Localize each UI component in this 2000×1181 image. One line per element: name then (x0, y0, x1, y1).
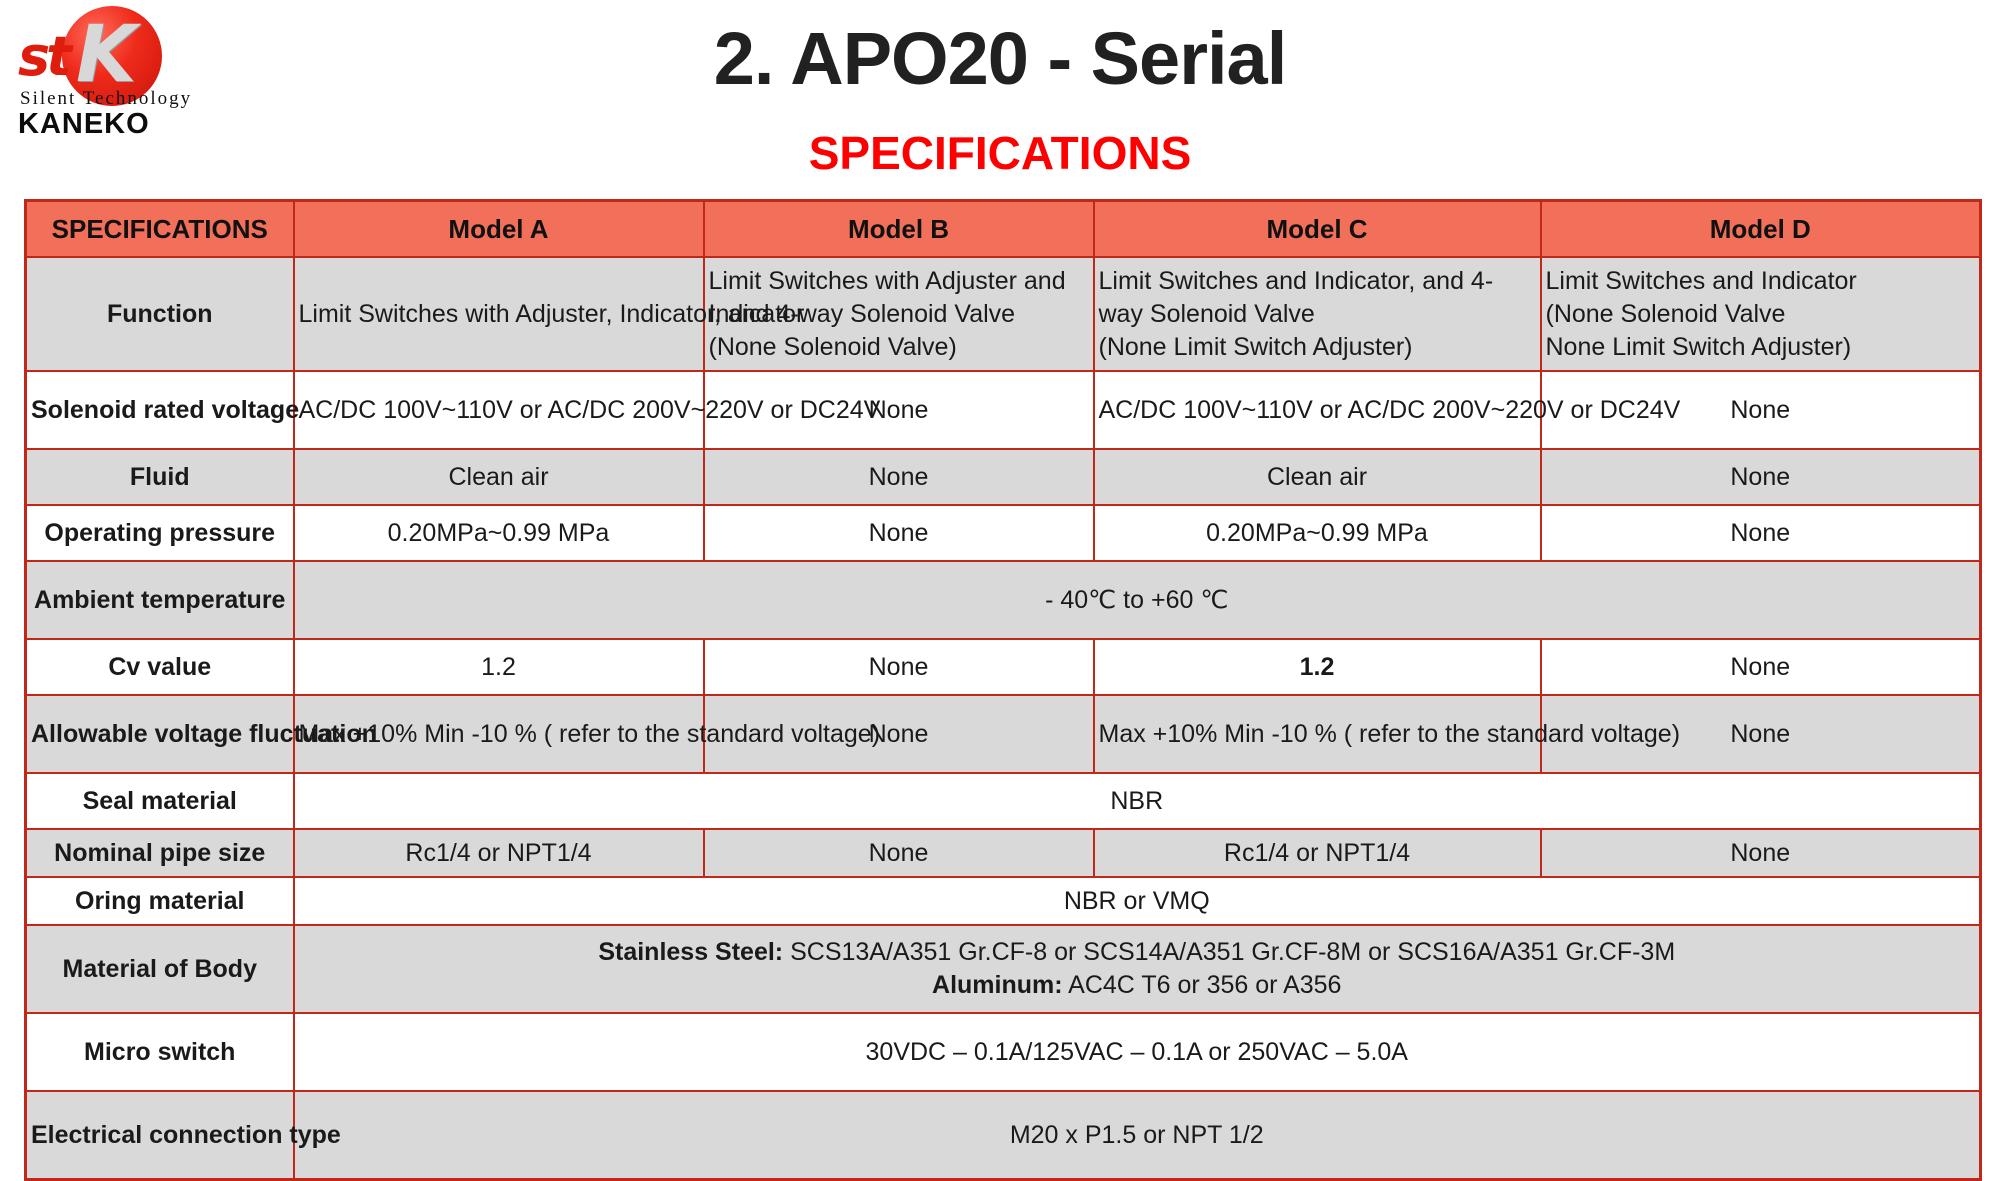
table-header-row: SPECIFICATIONS Model A Model B Model C M… (26, 201, 1981, 258)
row-label-electrical-connection-type: Electrical connection type (26, 1091, 294, 1180)
row-label-function: Function (26, 257, 294, 371)
table-row: Function Limit Switches with Adjuster, I… (26, 257, 1981, 371)
cell-allowable-c: Max +10% Min -10 % ( refer to the standa… (1094, 695, 1541, 773)
cell-electrical-connection-span: M20 x P1.5 or NPT 1/2 (294, 1091, 1981, 1180)
header-model-c: Model C (1094, 201, 1541, 258)
row-label-material-of-body: Material of Body (26, 925, 294, 1013)
header-model-d: Model D (1541, 201, 1981, 258)
cell-fluid-b: None (704, 449, 1094, 505)
slide-page: st K Silent Technology KANEKO 2. APO20 -… (0, 0, 2000, 1125)
cell-solenoid-c: AC/DC 100V~110V or AC/DC 200V~220V or DC… (1094, 371, 1541, 449)
table-row: Electrical connection type M20 x P1.5 or… (26, 1091, 1981, 1180)
row-label-allowable-voltage-fluctuation: Allowable voltage fluctuation (26, 695, 294, 773)
cell-pressure-d: None (1541, 505, 1981, 561)
cell-cv-a: 1.2 (294, 639, 704, 695)
table-row: Cv value 1.2 None 1.2 None (26, 639, 1981, 695)
material-line-stainless: Stainless Steel: SCS13A/A351 Gr.CF-8 or … (299, 936, 1976, 969)
table-row: Ambient temperature - 40℃ to +60 ℃ (26, 561, 1981, 639)
cell-seal-material-span: NBR (294, 773, 1981, 829)
table-row: Seal material NBR (26, 773, 1981, 829)
cell-pressure-b: None (704, 505, 1094, 561)
cell-cv-b: None (704, 639, 1094, 695)
table-row: Oring material NBR or VMQ (26, 877, 1981, 925)
cell-cv-c: 1.2 (1094, 639, 1541, 695)
page-title: 2. APO20 - Serial (0, 18, 2000, 100)
row-label-micro-switch: Micro switch (26, 1013, 294, 1091)
header-model-b: Model B (704, 201, 1094, 258)
specifications-table-wrapper: SPECIFICATIONS Model A Model B Model C M… (24, 199, 1979, 1181)
table-row: Fluid Clean air None Clean air None (26, 449, 1981, 505)
row-label-ambient-temperature: Ambient temperature (26, 561, 294, 639)
row-label-cv-value: Cv value (26, 639, 294, 695)
cell-function-a: Limit Switches with Adjuster, Indicator,… (294, 257, 704, 371)
table-row: Allowable voltage fluctuation Max +10% M… (26, 695, 1981, 773)
table-row: Nominal pipe size Rc1/4 or NPT1/4 None R… (26, 829, 1981, 877)
cell-pressure-a: 0.20MPa~0.99 MPa (294, 505, 704, 561)
cell-cv-d: None (1541, 639, 1981, 695)
cell-micro-switch-span: 30VDC – 0.1A/125VAC – 0.1A or 250VAC – 5… (294, 1013, 1981, 1091)
cell-pressure-c: 0.20MPa~0.99 MPa (1094, 505, 1541, 561)
cell-function-d: Limit Switches and Indicator (None Solen… (1541, 257, 1981, 371)
row-label-nominal-pipe-size: Nominal pipe size (26, 829, 294, 877)
material-line-aluminum: Aluminum: AC4C T6 or 356 or A356 (299, 969, 1976, 1002)
cell-solenoid-a: AC/DC 100V~110V or AC/DC 200V~220V or DC… (294, 371, 704, 449)
header-model-a: Model A (294, 201, 704, 258)
table-row: Material of Body Stainless Steel: SCS13A… (26, 925, 1981, 1013)
row-label-oring-material: Oring material (26, 877, 294, 925)
cell-fluid-c: Clean air (1094, 449, 1541, 505)
row-label-solenoid-rated-voltage: Solenoid rated voltage (26, 371, 294, 449)
cell-function-c: Limit Switches and Indicator, and 4-way … (1094, 257, 1541, 371)
cell-pipe-c: Rc1/4 or NPT1/4 (1094, 829, 1541, 877)
cell-pipe-b: None (704, 829, 1094, 877)
table-row: Solenoid rated voltage AC/DC 100V~110V o… (26, 371, 1981, 449)
cell-fluid-d: None (1541, 449, 1981, 505)
table-row: Micro switch 30VDC – 0.1A/125VAC – 0.1A … (26, 1013, 1981, 1091)
page-subtitle: SPECIFICATIONS (0, 128, 2000, 178)
material-stainless-label: Stainless Steel: (598, 938, 783, 966)
material-aluminum-label: Aluminum: (932, 971, 1063, 999)
cell-pipe-a: Rc1/4 or NPT1/4 (294, 829, 704, 877)
table-row: Operating pressure 0.20MPa~0.99 MPa None… (26, 505, 1981, 561)
material-stainless-value: SCS13A/A351 Gr.CF-8 or SCS14A/A351 Gr.CF… (783, 938, 1675, 966)
row-label-fluid: Fluid (26, 449, 294, 505)
cell-allowable-a: Max +10% Min -10 % ( refer to the standa… (294, 695, 704, 773)
cell-material-of-body-span: Stainless Steel: SCS13A/A351 Gr.CF-8 or … (294, 925, 1981, 1013)
row-label-operating-pressure: Operating pressure (26, 505, 294, 561)
header-specifications: SPECIFICATIONS (26, 201, 294, 258)
cell-fluid-a: Clean air (294, 449, 704, 505)
specifications-table: SPECIFICATIONS Model A Model B Model C M… (24, 199, 1982, 1181)
cell-ambient-temperature-span: - 40℃ to +60 ℃ (294, 561, 1981, 639)
cell-oring-material-span: NBR or VMQ (294, 877, 1981, 925)
material-aluminum-value: AC4C T6 or 356 or A356 (1063, 971, 1342, 999)
row-label-seal-material: Seal material (26, 773, 294, 829)
cell-pipe-d: None (1541, 829, 1981, 877)
